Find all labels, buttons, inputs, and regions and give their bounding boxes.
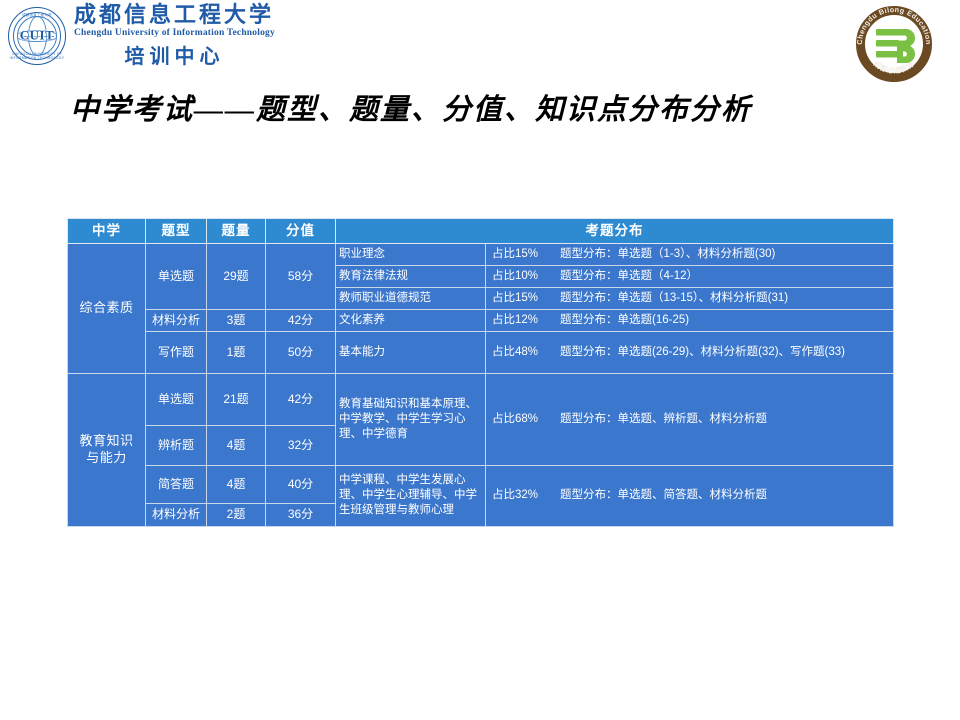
percent-text: 占比10% bbox=[492, 269, 550, 284]
score-cell-2-1: 42分 bbox=[266, 374, 336, 426]
table-row: 教育知识 与能力 单选题 21题 42分 教育基础知识和基本原理、中学教学、中学… bbox=[68, 374, 894, 426]
knowledge-point-cell: 教师职业道德规范 bbox=[336, 287, 486, 309]
qcount-cell-1-1: 29题 bbox=[207, 244, 266, 310]
distribution-cell: 占比10%题型分布：单选题（4-12） bbox=[486, 265, 894, 287]
distribution-text: 题型分布：单选题（4-12） bbox=[560, 270, 698, 282]
qcount-cell-2-4: 2题 bbox=[207, 504, 266, 526]
col-header-question-type: 题型 bbox=[146, 219, 207, 244]
col-header-question-count: 题量 bbox=[207, 219, 266, 244]
cuit-emblem-icon: 成都信息工程大学 CUIT CHENGDU UNIVERSITY OF INFO… bbox=[8, 7, 66, 65]
distribution-text: 题型分布：单选题(16-25) bbox=[560, 314, 689, 326]
university-wordmark: 成都信息工程大学 Chengdu University of Informati… bbox=[74, 3, 275, 68]
score-cell-2-3: 40分 bbox=[266, 466, 336, 504]
knowledge-point-cell: 职业理念 bbox=[336, 244, 486, 266]
col-header-distribution: 考题分布 bbox=[336, 219, 894, 244]
distribution-cell: 占比15%题型分布：单选题（13-15）、材料分析题(31) bbox=[486, 287, 894, 309]
training-center-label: 培训中心 bbox=[74, 40, 275, 69]
qcount-cell-1-3: 1题 bbox=[207, 332, 266, 374]
col-header-subject: 中学 bbox=[68, 219, 146, 244]
knowledge-point-cell: 基本能力 bbox=[336, 332, 486, 374]
table-row: 综合素质 单选题 29题 58分 职业理念 占比15%题型分布：单选题（1-3）… bbox=[68, 244, 894, 266]
slide-canvas: 成都信息工程大学 CUIT CHENGDU UNIVERSITY OF INFO… bbox=[0, 0, 960, 720]
score-cell-2-2: 32分 bbox=[266, 426, 336, 466]
distribution-cell: 占比15%题型分布：单选题（1-3）、材料分析题(30) bbox=[486, 244, 894, 266]
exam-distribution-table: 中学 题型 题量 分值 考题分布 综合素质 单选题 29题 58分 职业理念 占… bbox=[67, 218, 894, 527]
percent-text: 占比15% bbox=[492, 291, 550, 306]
score-cell-2-4: 36分 bbox=[266, 504, 336, 526]
percent-text: 占比48% bbox=[492, 345, 550, 360]
qcount-cell-2-2: 4题 bbox=[207, 426, 266, 466]
knowledge-point-cell: 中学课程、中学生发展心理、中学生心理辅导、中学生班级管理与教师心理 bbox=[336, 466, 486, 526]
distribution-text: 题型分布：单选题(26-29)、材料分析题(32)、写作题(33) bbox=[560, 346, 845, 358]
distribution-text: 题型分布：单选题、辨析题、材料分析题 bbox=[560, 413, 767, 425]
cuit-mark-text: CUIT bbox=[8, 28, 66, 44]
col-header-score: 分值 bbox=[266, 219, 336, 244]
distribution-text: 题型分布：单选题（1-3）、材料分析题(30) bbox=[560, 248, 775, 260]
cuit-logo: 成都信息工程大学 CUIT CHENGDU UNIVERSITY OF INFO… bbox=[8, 2, 308, 70]
distribution-text: 题型分布：单选题（13-15）、材料分析题(31) bbox=[560, 292, 788, 304]
university-name-cn: 成都信息工程大学 bbox=[74, 3, 275, 26]
subject-cell-1: 综合素质 bbox=[68, 244, 146, 374]
score-cell-1-1: 58分 bbox=[266, 244, 336, 310]
table-header-row: 中学 题型 题量 分值 考题分布 bbox=[68, 219, 894, 244]
percent-text: 占比32% bbox=[492, 488, 550, 503]
subject-line-2: 与能力 bbox=[86, 450, 127, 465]
table-row: 材料分析 3题 42分 文化素养 占比12%题型分布：单选题(16-25) bbox=[68, 309, 894, 331]
distribution-text: 题型分布：单选题、简答题、材料分析题 bbox=[560, 489, 767, 501]
subject-cell-2: 教育知识 与能力 bbox=[68, 374, 146, 526]
subject-line-1: 教育知识 bbox=[79, 433, 133, 448]
page-title: 中学考试——题型、题量、分值、知识点分布分析 bbox=[70, 86, 900, 128]
table-row: 写作题 1题 50分 基本能力 占比48%题型分布：单选题(26-29)、材料分… bbox=[68, 332, 894, 374]
qtype-cell-2-3: 简答题 bbox=[146, 466, 207, 504]
qtype-cell-2-4: 材料分析 bbox=[146, 504, 207, 526]
qcount-cell-2-3: 4题 bbox=[207, 466, 266, 504]
qtype-cell-2-1: 单选题 bbox=[146, 374, 207, 426]
cuit-arc-top-text: 成都信息工程大学 bbox=[8, 12, 66, 17]
qtype-cell-1-2: 材料分析 bbox=[146, 309, 207, 331]
knowledge-point-cell: 教育基础知识和基本原理、中学教学、中学生学习心理、中学德育 bbox=[336, 374, 486, 466]
score-cell-1-2: 42分 bbox=[266, 309, 336, 331]
university-name-en: Chengdu University of Information Techno… bbox=[74, 28, 275, 38]
qcount-cell-1-2: 3题 bbox=[207, 309, 266, 331]
bilong-logo: Chengdu Bilong Education 成都必通教育 bbox=[856, 6, 936, 82]
percent-text: 占比12% bbox=[492, 313, 550, 328]
qcount-cell-2-1: 21题 bbox=[207, 374, 266, 426]
percent-text: 占比68% bbox=[492, 412, 550, 427]
cuit-arc-bottom-text: CHENGDU UNIVERSITY OF INFORMATION TECHNO… bbox=[8, 52, 66, 60]
score-cell-1-3: 50分 bbox=[266, 332, 336, 374]
knowledge-point-cell: 文化素养 bbox=[336, 309, 486, 331]
distribution-cell: 占比68%题型分布：单选题、辨析题、材料分析题 bbox=[486, 374, 894, 466]
qtype-cell-2-2: 辨析题 bbox=[146, 426, 207, 466]
qtype-cell-1-1: 单选题 bbox=[146, 244, 207, 310]
distribution-cell: 占比48%题型分布：单选题(26-29)、材料分析题(32)、写作题(33) bbox=[486, 332, 894, 374]
table-row: 简答题 4题 40分 中学课程、中学生发展心理、中学生心理辅导、中学生班级管理与… bbox=[68, 466, 894, 504]
qtype-cell-1-3: 写作题 bbox=[146, 332, 207, 374]
percent-text: 占比15% bbox=[492, 247, 550, 262]
bilong-b-glyph-icon bbox=[873, 23, 915, 65]
knowledge-point-cell: 教育法律法规 bbox=[336, 265, 486, 287]
distribution-cell: 占比32%题型分布：单选题、简答题、材料分析题 bbox=[486, 466, 894, 526]
distribution-cell: 占比12%题型分布：单选题(16-25) bbox=[486, 309, 894, 331]
